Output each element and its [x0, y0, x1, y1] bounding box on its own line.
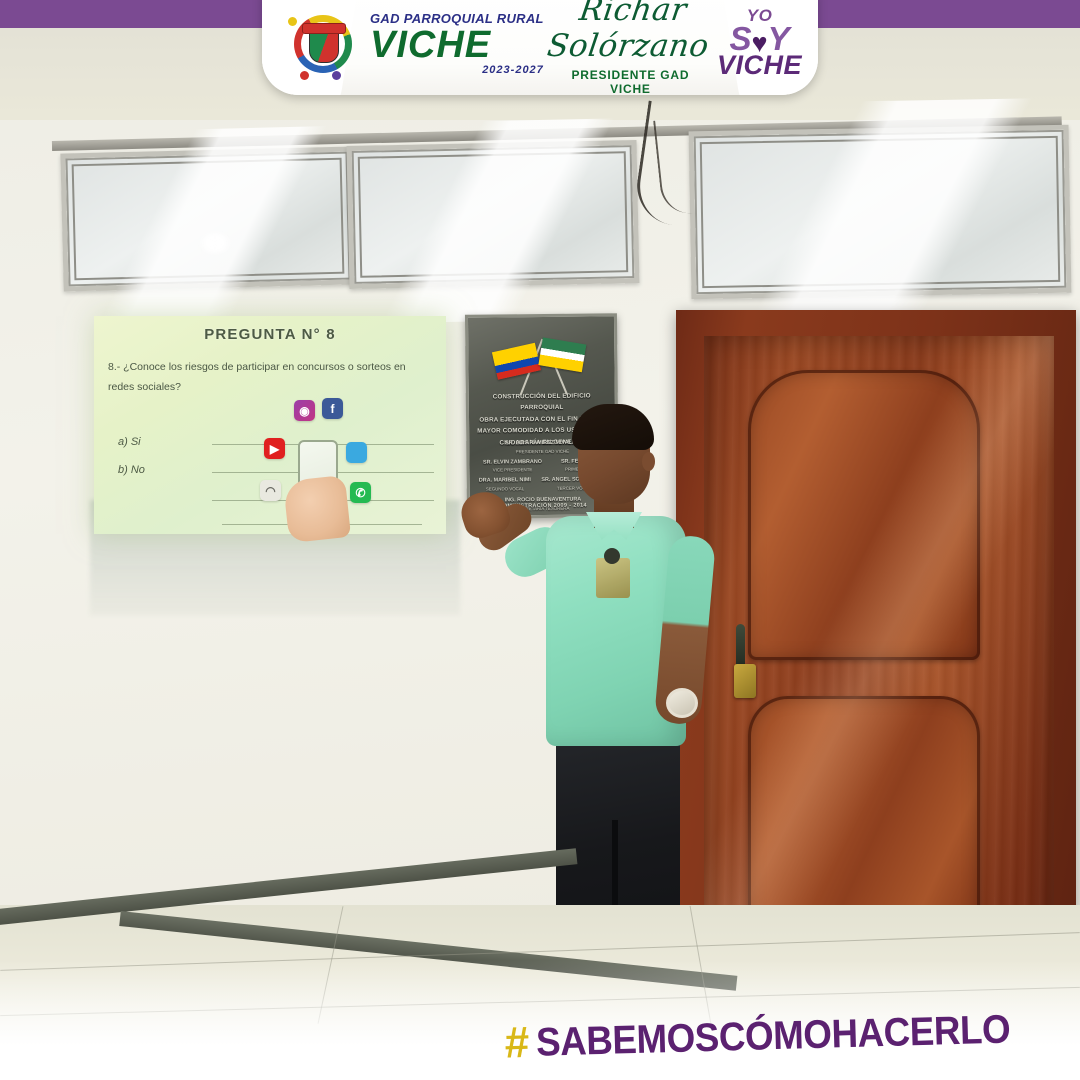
plaque-flags	[494, 332, 591, 389]
gad-viche-coat-of-arms-icon	[288, 9, 358, 79]
hand-illustration	[283, 475, 351, 543]
slide-option-b: b) No	[118, 464, 145, 476]
header-banner: GAD PARROQUIAL RURAL VICHE 2023-2027 Ric…	[262, 0, 818, 95]
slide-title: PREGUNTA N° 8	[94, 326, 446, 343]
door-panel-upper	[748, 370, 980, 660]
ysv-viche-text: VICHE	[717, 54, 802, 78]
gad-line-1: GAD PARROQUIAL RURAL	[370, 12, 544, 25]
president-signature: Richar Solórzano	[545, 0, 716, 64]
ecuador-flag	[492, 343, 541, 380]
twitter-icon	[346, 442, 367, 463]
clerestory-window-center	[347, 140, 640, 289]
president-signature-block: Richar Solórzano PRESIDENTE GAD VICHE	[544, 0, 717, 95]
door-frame	[676, 310, 1076, 970]
ysv-letter-s: S	[730, 20, 752, 57]
gad-wordmark: GAD PARROQUIAL RURAL VICHE 2023-2027	[370, 12, 544, 76]
esmeraldas-flag	[538, 337, 586, 372]
social-media-post: PREGUNTA N° 8 8.- ¿Conoce los riesgos de…	[0, 0, 1080, 1080]
door-lock-plate	[734, 664, 756, 698]
slide-question: 8.- ¿Conoce los riesgos de participar en…	[108, 358, 430, 398]
ysv-soy-text: S♥Y	[717, 24, 802, 54]
youtube-icon: ▶	[264, 438, 285, 459]
hair	[572, 404, 654, 450]
wristwatch	[666, 688, 698, 718]
ysv-letter-y: Y	[768, 20, 790, 57]
event-photograph: PREGUNTA N° 8 8.- ¿Conoce los riesgos de…	[0, 0, 1080, 1080]
slide-option-a: a) Si	[118, 436, 141, 448]
ear	[642, 452, 655, 471]
window-reflection	[656, 97, 1080, 342]
yo-soy-viche-logo: YO S♥Y VICHE	[717, 9, 802, 78]
gad-line-2: VICHE	[370, 26, 544, 64]
hash-symbol-icon: #	[504, 1021, 530, 1066]
gad-term-years: 2023-2027	[370, 65, 544, 76]
wooden-door	[704, 336, 1054, 970]
facebook-icon: f	[322, 398, 343, 419]
heart-icon: ♥	[752, 32, 768, 56]
instagram-icon: ◉	[294, 400, 315, 421]
emblem-dot-purple	[332, 71, 341, 80]
window-reflection	[323, 117, 691, 324]
whatsapp-icon: ✆	[350, 482, 371, 503]
clerestory-window-left	[60, 146, 355, 291]
shirt-embroidered-logo	[596, 558, 630, 598]
light-reflection	[198, 230, 232, 256]
snapchat-icon: ◠	[260, 480, 281, 501]
emblem-dot-red	[300, 71, 309, 80]
clerestory-window-right	[689, 125, 1072, 300]
emblem-dot-yellow	[288, 17, 297, 26]
emblem-ribbon	[302, 23, 346, 34]
projected-slide: PREGUNTA N° 8 8.- ¿Conoce los riesgos de…	[94, 316, 446, 534]
president-role-label: PRESIDENTE GAD VICHE	[550, 68, 711, 96]
